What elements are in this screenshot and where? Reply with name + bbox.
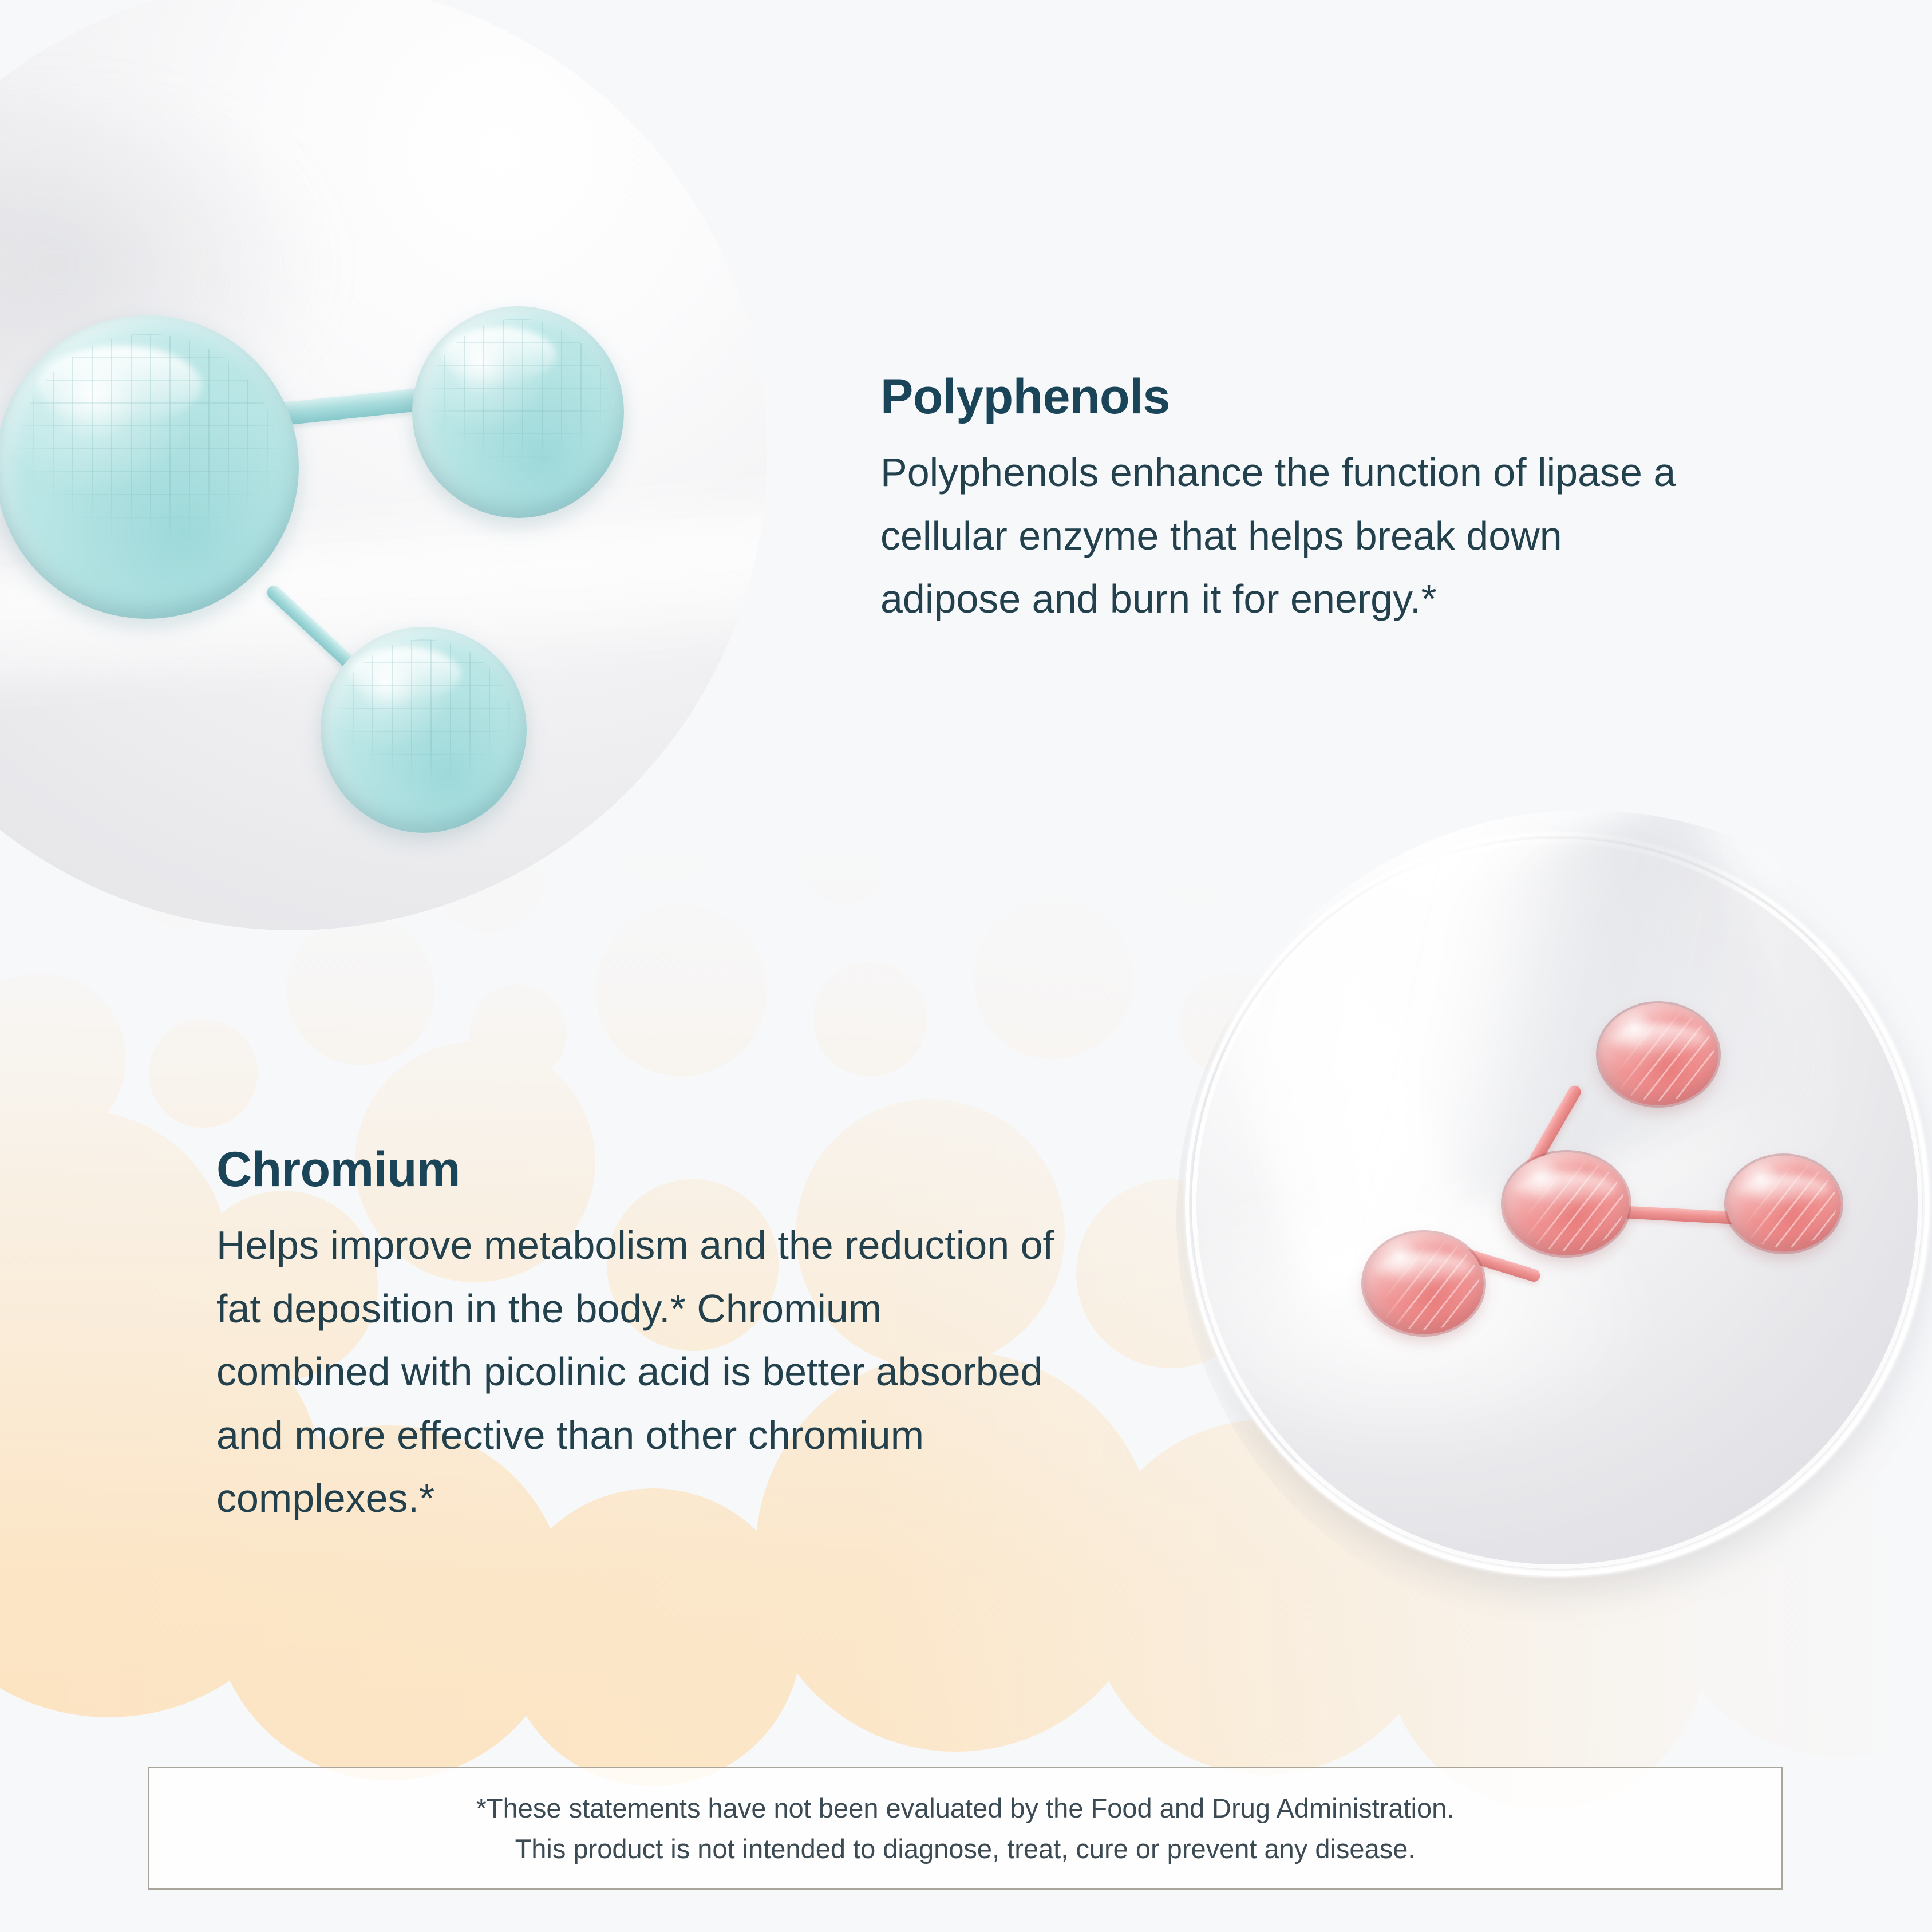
teal-molecule-photo xyxy=(0,0,767,930)
chromium-heading: Chromium xyxy=(216,1145,1064,1194)
teal-atom-upper-right xyxy=(412,306,624,518)
polyphenols-heading: Polyphenols xyxy=(880,372,1693,421)
disclaimer-box: *These statements have not been evaluate… xyxy=(148,1767,1783,1890)
teal-atom-large xyxy=(0,315,299,619)
polyphenols-body: Polyphenols enhance the function of lipa… xyxy=(880,441,1693,631)
pink-molecule-petri-dish-photo xyxy=(1176,810,1932,1629)
petri-dish xyxy=(1185,832,1929,1576)
pink-atom-hatch-lines xyxy=(1508,1156,1624,1251)
pink-atom-hatch-lines xyxy=(1731,1160,1836,1249)
pink-atom-lower-left xyxy=(1364,1232,1484,1334)
pink-atom-right xyxy=(1726,1156,1841,1252)
teal-atom-grid-lines xyxy=(425,319,611,505)
teal-atom-grid-lines xyxy=(333,639,515,821)
pink-atom-center xyxy=(1503,1152,1629,1255)
chromium-body: Helps improve metabolism and the reducti… xyxy=(216,1214,1064,1530)
teal-atom-grid-lines xyxy=(14,334,280,600)
teal-atom-lower-right xyxy=(321,627,527,833)
infographic-canvas: Polyphenols Polyphenols enhance the func… xyxy=(0,0,1932,1932)
pink-atom-top xyxy=(1598,1003,1718,1105)
chromium-section: Chromium Helps improve metabolism and th… xyxy=(216,1145,1064,1530)
pink-atom-hatch-lines xyxy=(1368,1236,1479,1330)
polyphenols-section: Polyphenols Polyphenols enhance the func… xyxy=(880,372,1693,631)
pink-atom-hatch-lines xyxy=(1603,1008,1713,1101)
disclaimer-text: *These statements have not been evaluate… xyxy=(476,1788,1455,1870)
